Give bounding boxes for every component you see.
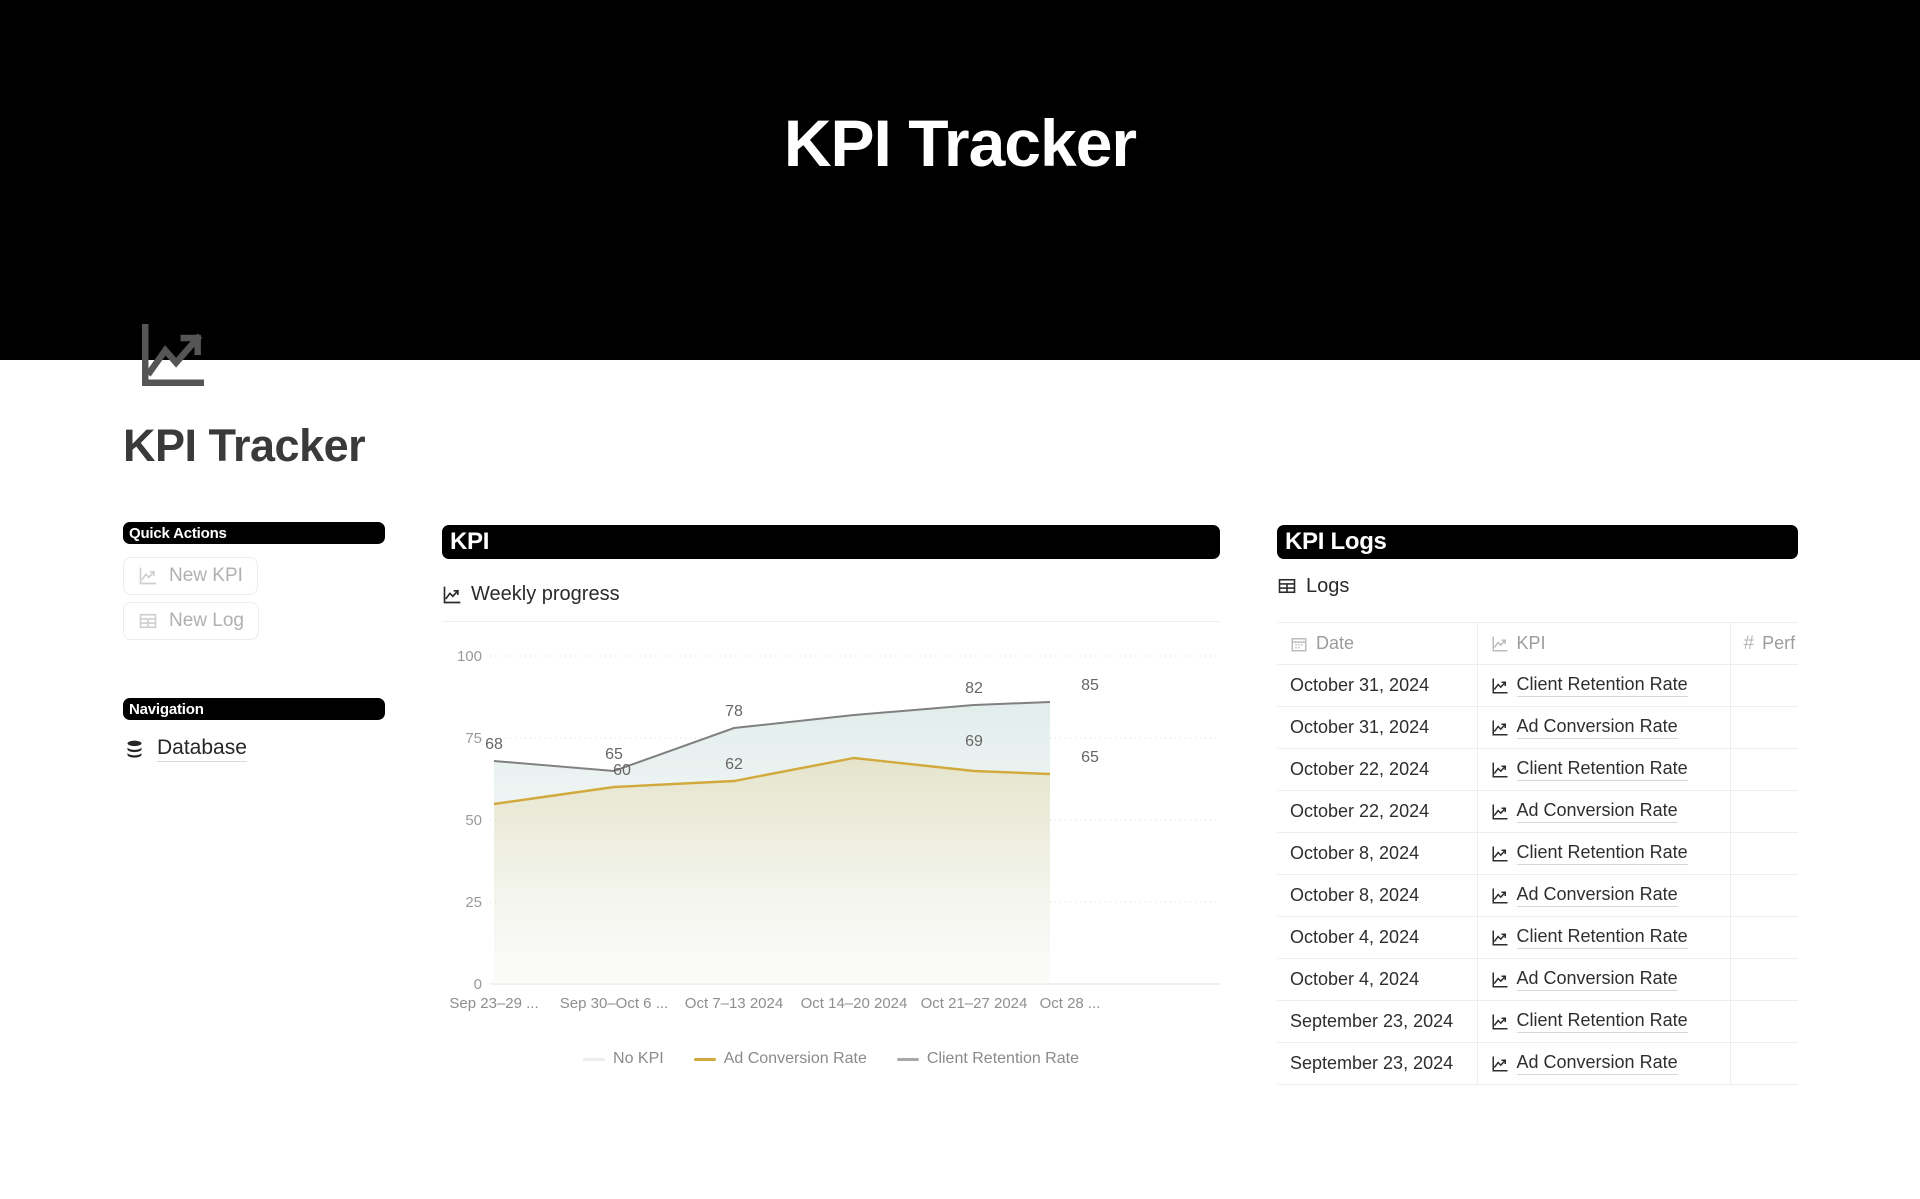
weekly-progress-chart: 100 75 50 25 0 68 65 78 82 85 [442, 636, 1220, 1036]
cell-kpi[interactable]: Ad Conversion Rate [1477, 707, 1730, 749]
logs-subtitle-label: Logs [1306, 575, 1349, 598]
legend-item-ad-conversion-rate[interactable]: Ad Conversion Rate [694, 1050, 867, 1068]
svg-text:60: 60 [613, 762, 631, 779]
table-row[interactable]: October 22, 2024 Ad Conversion Rate [1277, 791, 1798, 833]
table-row[interactable]: October 31, 2024 Ad Conversion Rate [1277, 707, 1798, 749]
table-row[interactable]: October 22, 2024 Client Retention Rate [1277, 749, 1798, 791]
line-chart-icon [1491, 635, 1509, 653]
legend-label: No KPI [613, 1050, 664, 1068]
legend-swatch [897, 1058, 919, 1061]
svg-text:65: 65 [605, 746, 623, 763]
cover-title: KPI Tracker [784, 110, 1136, 176]
database-icon [123, 738, 145, 760]
cover-banner: KPI Tracker [0, 0, 1920, 360]
table-icon [1277, 576, 1297, 596]
cell-date: October 31, 2024 [1277, 665, 1477, 707]
cell-kpi[interactable]: Client Retention Rate [1477, 749, 1730, 791]
cell-kpi-label: Ad Conversion Rate [1517, 800, 1678, 823]
svg-text:78: 78 [725, 703, 743, 720]
logs-subtitle-row[interactable]: Logs [1277, 559, 1798, 613]
table-icon [138, 611, 158, 631]
cell-date: October 4, 2024 [1277, 959, 1477, 1001]
cell-date: September 23, 2024 [1277, 1001, 1477, 1043]
chart-legend: No KPI Ad Conversion Rate Client Retenti… [442, 1050, 1220, 1068]
hash-icon: # [1744, 633, 1755, 655]
svg-text:65: 65 [1081, 749, 1099, 766]
new-kpi-label: New KPI [169, 565, 243, 587]
line-chart-increasing-icon [136, 318, 210, 392]
logs-table-body: October 31, 2024 Client Retention Rate O… [1277, 665, 1798, 1085]
line-chart-icon [1491, 845, 1509, 863]
line-chart-icon [138, 566, 158, 586]
svg-text:Sep 23–29 ...: Sep 23–29 ... [449, 995, 538, 1012]
table-row[interactable]: October 31, 2024 Client Retention Rate [1277, 665, 1798, 707]
cell-kpi[interactable]: Client Retention Rate [1477, 917, 1730, 959]
svg-text:Oct 21–27 2024: Oct 21–27 2024 [921, 995, 1028, 1012]
svg-text:85: 85 [1081, 677, 1099, 694]
quick-actions-heading-label: Quick Actions [129, 525, 227, 542]
cell-performance [1730, 1043, 1798, 1085]
cell-date: September 23, 2024 [1277, 1043, 1477, 1085]
cell-date: October 22, 2024 [1277, 791, 1477, 833]
chart-subtitle-label: Weekly progress [471, 583, 620, 606]
line-chart-icon [442, 585, 462, 605]
line-chart-icon [1491, 1055, 1509, 1073]
table-row[interactable]: October 8, 2024 Client Retention Rate [1277, 833, 1798, 875]
svg-text:100: 100 [457, 648, 482, 665]
cell-kpi[interactable]: Client Retention Rate [1477, 665, 1730, 707]
svg-text:69: 69 [965, 733, 983, 750]
svg-text:Oct 28 ...: Oct 28 ... [1040, 995, 1101, 1012]
cell-kpi[interactable]: Ad Conversion Rate [1477, 1043, 1730, 1085]
navigation-block: Navigation Database [123, 698, 385, 764]
svg-text:0: 0 [474, 976, 482, 993]
column-header-kpi-label: KPI [1517, 633, 1546, 654]
column-header-date[interactable]: Date [1277, 623, 1477, 665]
logs-card-heading: KPI Logs [1277, 525, 1798, 559]
chart-svg: 100 75 50 25 0 68 65 78 82 85 [442, 636, 1220, 1036]
new-log-label: New Log [169, 610, 244, 632]
cell-kpi-label: Client Retention Rate [1517, 758, 1688, 781]
svg-text:Sep 30–Oct 6 ...: Sep 30–Oct 6 ... [560, 995, 668, 1012]
legend-swatch [694, 1058, 716, 1061]
column-header-performance-label: Perf [1762, 633, 1795, 654]
cell-kpi-label: Ad Conversion Rate [1517, 884, 1678, 907]
sidebar: Quick Actions New KPI Ne [123, 522, 385, 764]
line-chart-icon [1491, 761, 1509, 779]
cell-kpi[interactable]: Ad Conversion Rate [1477, 791, 1730, 833]
svg-text:62: 62 [725, 756, 743, 773]
cell-date: October 8, 2024 [1277, 833, 1477, 875]
navigation-heading: Navigation [123, 698, 385, 720]
legend-label: Client Retention Rate [927, 1050, 1079, 1068]
legend-swatch [583, 1058, 605, 1061]
navigation-list: Database [123, 734, 385, 764]
line-chart-icon [1491, 1013, 1509, 1031]
svg-text:Oct 7–13 2024: Oct 7–13 2024 [685, 995, 783, 1012]
cell-performance [1730, 707, 1798, 749]
logs-table-wrapper: Date KPI [1277, 622, 1798, 1085]
cell-performance [1730, 749, 1798, 791]
legend-item-client-retention-rate[interactable]: Client Retention Rate [897, 1050, 1079, 1068]
cell-kpi-label: Client Retention Rate [1517, 1010, 1688, 1033]
svg-text:Oct 14–20 2024: Oct 14–20 2024 [801, 995, 908, 1012]
column-header-date-label: Date [1316, 633, 1354, 654]
line-chart-icon [1491, 719, 1509, 737]
cell-kpi-label: Client Retention Rate [1517, 842, 1688, 865]
line-chart-icon [1491, 929, 1509, 947]
cell-performance [1730, 665, 1798, 707]
kpi-logs-card: KPI Logs Logs [1277, 525, 1798, 1085]
line-chart-icon [1491, 887, 1509, 905]
cell-kpi[interactable]: Ad Conversion Rate [1477, 875, 1730, 917]
legend-label: Ad Conversion Rate [724, 1050, 867, 1068]
kpi-card-heading: KPI [442, 525, 1220, 559]
table-header-row: Date KPI [1277, 623, 1798, 665]
quick-actions-heading: Quick Actions [123, 522, 385, 544]
line-chart-icon [1491, 803, 1509, 821]
cell-kpi[interactable]: Client Retention Rate [1477, 833, 1730, 875]
cell-performance [1730, 833, 1798, 875]
cell-performance [1730, 791, 1798, 833]
column-header-kpi[interactable]: KPI [1477, 623, 1730, 665]
cell-kpi-label: Client Retention Rate [1517, 926, 1688, 949]
quick-actions-list: New KPI New Log [123, 557, 385, 640]
sidebar-item-database[interactable]: Database [123, 734, 385, 764]
new-kpi-button[interactable]: New KPI [123, 557, 258, 595]
logs-card-heading-label: KPI Logs [1285, 528, 1387, 556]
navigation-heading-label: Navigation [129, 701, 204, 718]
cell-performance [1730, 875, 1798, 917]
table-row[interactable]: October 4, 2024 Client Retention Rate [1277, 917, 1798, 959]
kpi-card-heading-label: KPI [450, 528, 489, 556]
column-header-performance[interactable]: # Perf [1730, 623, 1798, 665]
line-chart-icon [1491, 677, 1509, 695]
cell-performance [1730, 959, 1798, 1001]
chart-subtitle-row[interactable]: Weekly progress [442, 568, 1220, 622]
cell-kpi-label: Client Retention Rate [1517, 674, 1688, 697]
page-title: KPI Tracker [123, 420, 365, 472]
svg-text:75: 75 [465, 730, 482, 747]
table-row[interactable]: September 23, 2024 Client Retention Rate [1277, 1001, 1798, 1043]
cell-date: October 22, 2024 [1277, 749, 1477, 791]
cell-kpi-label: Ad Conversion Rate [1517, 968, 1678, 991]
table-row[interactable]: September 23, 2024 Ad Conversion Rate [1277, 1043, 1798, 1085]
cell-performance [1730, 1001, 1798, 1043]
table-row[interactable]: October 8, 2024 Ad Conversion Rate [1277, 875, 1798, 917]
svg-text:25: 25 [465, 894, 482, 911]
chart-y-ticks: 100 75 50 25 0 [457, 648, 482, 993]
chart-x-ticks: Sep 23–29 ... Sep 30–Oct 6 ... Oct 7–13 … [449, 995, 1100, 1012]
cell-date: October 31, 2024 [1277, 707, 1477, 749]
cell-kpi[interactable]: Ad Conversion Rate [1477, 959, 1730, 1001]
kpi-chart-card: KPI Weekly progress [442, 525, 1220, 1068]
svg-text:82: 82 [965, 680, 983, 697]
svg-text:68: 68 [485, 736, 503, 753]
calendar-icon [1290, 635, 1308, 653]
table-row[interactable]: October 4, 2024 Ad Conversion Rate [1277, 959, 1798, 1001]
legend-item-no-kpi[interactable]: No KPI [583, 1050, 664, 1068]
cell-performance [1730, 917, 1798, 959]
cell-date: October 8, 2024 [1277, 875, 1477, 917]
logs-table: Date KPI [1277, 622, 1798, 1085]
cell-kpi-label: Ad Conversion Rate [1517, 716, 1678, 739]
cell-date: October 4, 2024 [1277, 917, 1477, 959]
new-log-button[interactable]: New Log [123, 602, 259, 640]
line-chart-icon [1491, 971, 1509, 989]
sidebar-item-database-label: Database [157, 736, 247, 762]
svg-text:50: 50 [465, 812, 482, 829]
cell-kpi[interactable]: Client Retention Rate [1477, 1001, 1730, 1043]
cell-kpi-label: Ad Conversion Rate [1517, 1052, 1678, 1075]
